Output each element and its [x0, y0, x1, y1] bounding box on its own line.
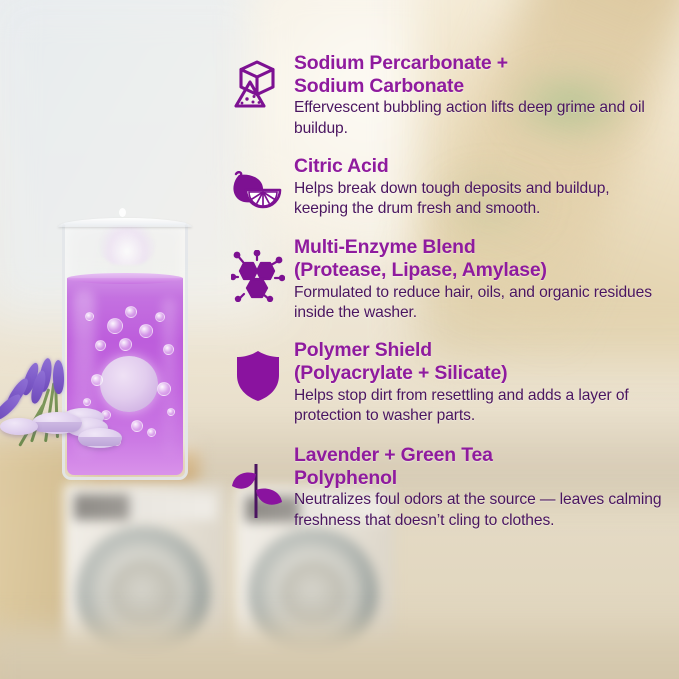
bubble: [139, 324, 153, 338]
powder-cube-icon: [233, 58, 283, 110]
feature-title-line: (Protease, Lipase, Amylase): [294, 259, 547, 281]
feature-title-line: Sodium Carbonate: [294, 75, 464, 97]
feature-title-line: Multi-Enzyme Blend: [294, 236, 476, 258]
feature-description: Helps stop dirt from resettling and adds…: [294, 386, 662, 427]
bubble: [131, 420, 143, 432]
bubble: [157, 382, 171, 396]
feature-item-polymer-shield: Polymer Shield (Polyacrylate + Silicate)…: [222, 339, 662, 426]
feature-title-line: Citric Acid: [294, 155, 389, 177]
infographic-canvas: Sodium Percarbonate + Sodium Carbonate E…: [0, 0, 679, 679]
feature-title-line: (Polyacrylate + Silicate): [294, 362, 507, 384]
shield-icon: [234, 349, 282, 403]
feature-icon-cell: [222, 236, 294, 302]
feature-text-cell: Polymer Shield (Polyacrylate + Silicate)…: [294, 339, 662, 426]
bubble: [155, 312, 165, 322]
feature-title: Polymer Shield (Polyacrylate + Silicate): [294, 339, 662, 384]
machine-drum: [110, 560, 176, 626]
water-droplet: [119, 208, 126, 217]
cleaning-tablet: [0, 418, 38, 435]
feature-title: Sodium Percarbonate + Sodium Carbonate: [294, 52, 662, 97]
bubble: [147, 428, 156, 437]
feature-title: Citric Acid: [294, 155, 662, 178]
feature-title-line: Sodium Percarbonate +: [294, 52, 508, 74]
bubble: [85, 312, 94, 321]
feature-title: Lavender + Green Tea Polyphenol: [294, 444, 662, 489]
feature-text-cell: Lavender + Green Tea Polyphenol Neutrali…: [294, 444, 662, 531]
feature-text-cell: Sodium Percarbonate + Sodium Carbonate E…: [294, 52, 662, 139]
liquid-highlight-right: [162, 298, 176, 458]
feature-text-cell: Citric Acid Helps break down tough depos…: [294, 155, 662, 219]
feature-description: Effervescent bubbling action lifts deep …: [294, 98, 662, 139]
feature-item-sodium-percarbonate: Sodium Percarbonate + Sodium Carbonate E…: [222, 52, 662, 139]
bubble: [107, 318, 123, 334]
feature-title-line: Polymer Shield: [294, 339, 432, 361]
water-splash: [99, 222, 155, 265]
feature-title: Multi-Enzyme Blend (Protease, Lipase, Am…: [294, 236, 662, 281]
lavender-and-tablets: [0, 356, 128, 474]
feature-text-cell: Multi-Enzyme Blend (Protease, Lipase, Am…: [294, 236, 662, 323]
feature-icon-cell: [222, 155, 294, 211]
cleaning-tablet-edge: [78, 437, 122, 446]
bubble: [119, 338, 132, 351]
feature-description: Helps break down tough deposits and buil…: [294, 179, 662, 220]
feature-item-multi-enzyme-blend: Multi-Enzyme Blend (Protease, Lipase, Am…: [222, 236, 662, 323]
feature-title-line: Polyphenol: [294, 467, 397, 489]
feature-item-lavender-green-tea: Lavender + Green Tea Polyphenol Neutrali…: [222, 444, 662, 531]
leaf-sprout-icon: [232, 462, 284, 520]
feature-title-line: Lavender + Green Tea: [294, 444, 493, 466]
lavender-flower: [53, 360, 65, 394]
bubble: [125, 306, 137, 318]
feature-description: Formulated to reduce hair, oils, and org…: [294, 283, 662, 324]
bubble: [167, 408, 175, 416]
machine-drum: [281, 561, 345, 625]
background-floor: [0, 628, 679, 679]
feature-icon-cell: [222, 339, 294, 403]
feature-list: Sodium Percarbonate + Sodium Carbonate E…: [222, 52, 662, 546]
feature-icon-cell: [222, 444, 294, 520]
cleaning-tablet-edge: [32, 422, 82, 432]
bubble: [163, 344, 174, 355]
machine-control-panel: [74, 494, 217, 520]
molecule-icon: [231, 250, 285, 302]
feature-description: Neutralizes foul odors at the source — l…: [294, 490, 662, 531]
liquid-surface: [67, 273, 183, 284]
lemon-slice-icon: [232, 171, 284, 211]
bubble: [95, 340, 106, 351]
feature-icon-cell: [222, 52, 294, 110]
feature-item-citric-acid: Citric Acid Helps break down tough depos…: [222, 155, 662, 219]
